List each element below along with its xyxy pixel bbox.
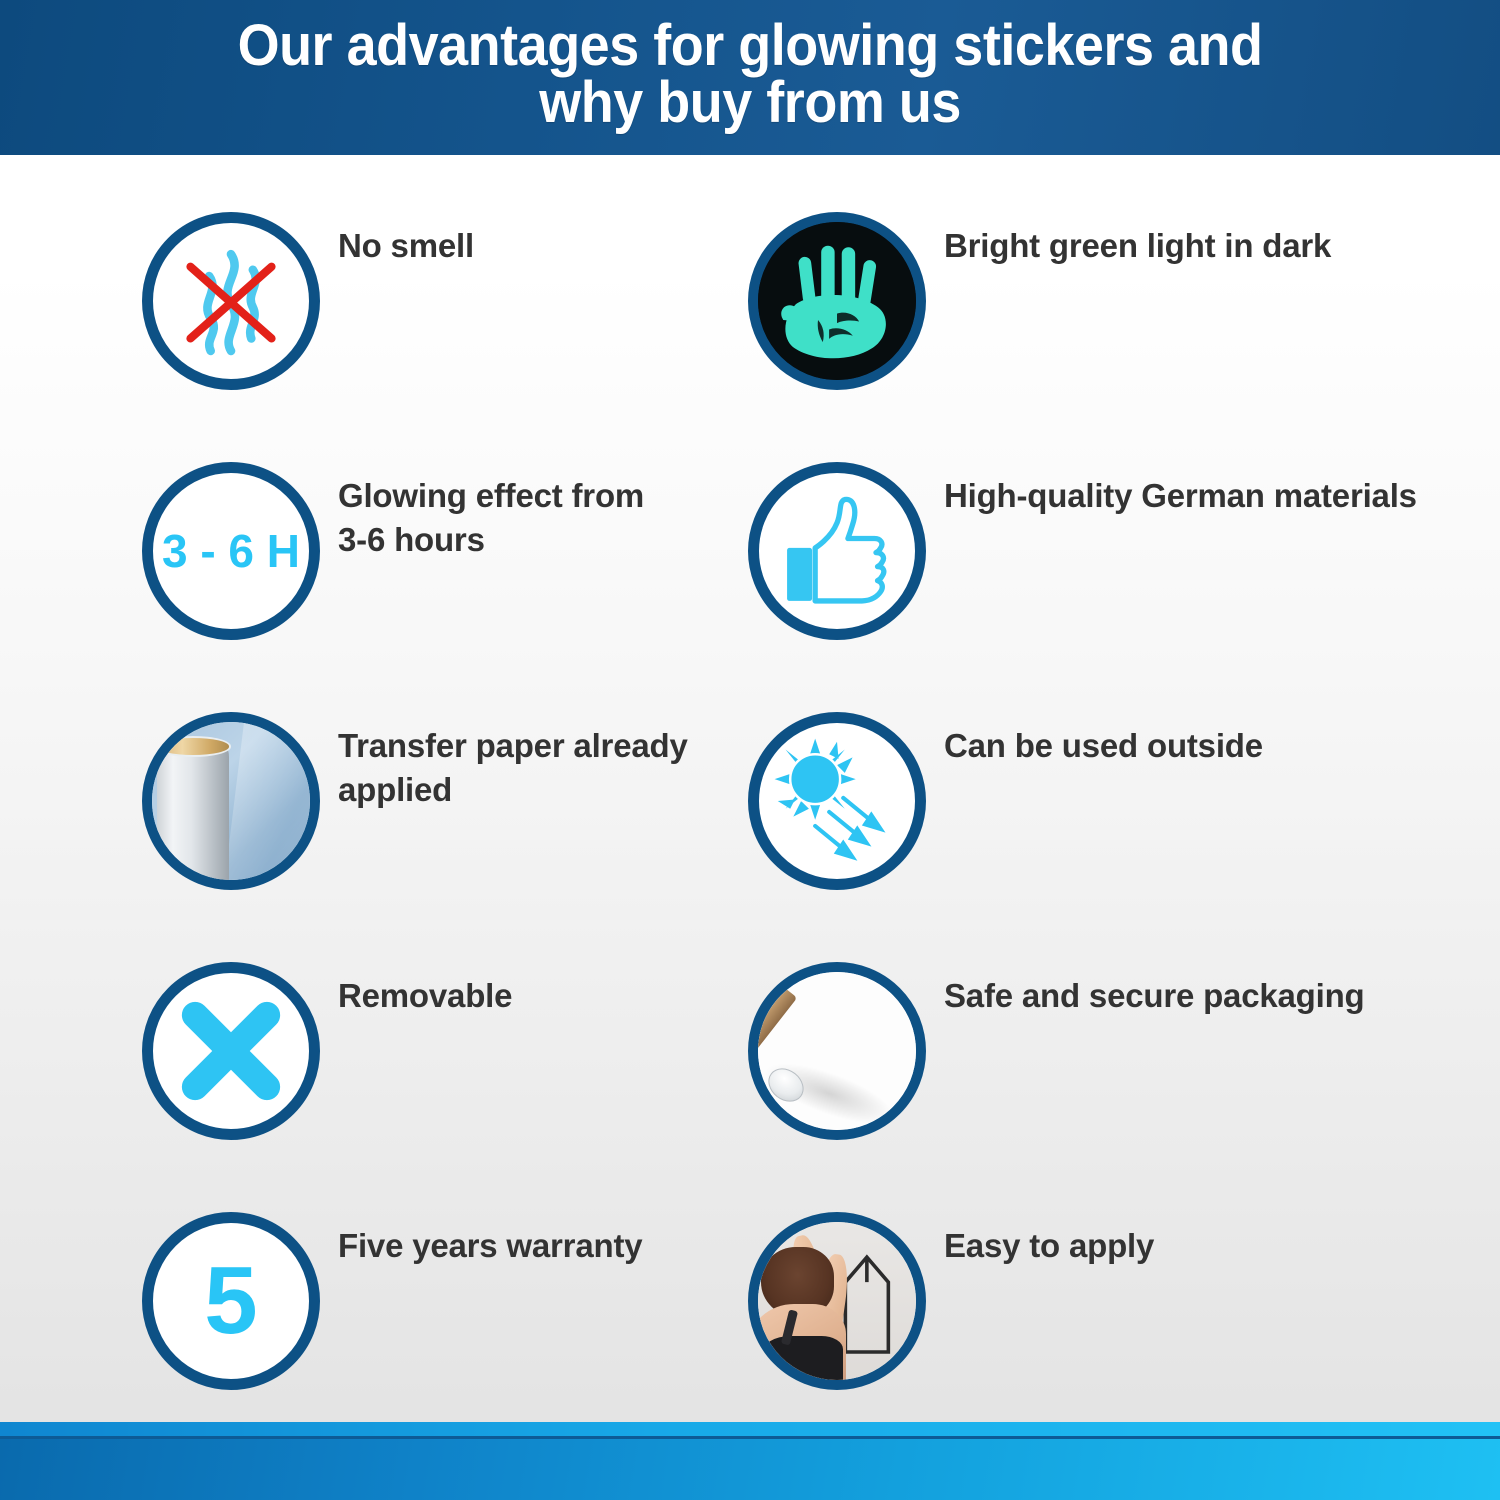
easy-to-apply-badge bbox=[748, 1212, 926, 1390]
woman-applying-decal-photo bbox=[758, 1222, 916, 1380]
black-top bbox=[761, 1336, 843, 1387]
advantage-item-safe-packaging: Safe and secure packaging bbox=[748, 962, 1365, 1140]
advantage-label: Easy to apply bbox=[944, 1224, 1154, 1268]
advantage-item-five-years-warranty: 5 Five years warranty bbox=[142, 1212, 642, 1390]
thumbs-up-badge bbox=[748, 462, 926, 640]
advantage-label: High-quality German materials bbox=[944, 474, 1417, 518]
bottom-banner bbox=[0, 1436, 1500, 1500]
wall-decal-outline bbox=[840, 1247, 894, 1364]
advantage-item-transfer-paper: Transfer paper already applied bbox=[142, 712, 688, 890]
advantage-label: No smell bbox=[338, 224, 474, 268]
page-title: Our advantages for glowing stickers and … bbox=[238, 18, 1263, 131]
bottom-accent-strip bbox=[0, 1422, 1500, 1436]
number-five-icon: 5 bbox=[153, 1223, 309, 1379]
advantage-label: Removable bbox=[338, 974, 512, 1018]
header-banner: Our advantages for glowing stickers and … bbox=[0, 0, 1500, 155]
advantage-item-bright-green-light: Bright green light in dark bbox=[748, 212, 1331, 390]
advantages-grid: No smell bbox=[0, 155, 1500, 1420]
hours-badge: 3 - 6 H bbox=[142, 462, 320, 640]
transfer-roll-core bbox=[155, 736, 231, 757]
removable-badge bbox=[142, 962, 320, 1140]
advantage-label: Five years warranty bbox=[338, 1224, 642, 1268]
advantage-item-no-smell: No smell bbox=[142, 212, 474, 390]
sun-rays-icon bbox=[759, 723, 915, 879]
transfer-film-roll bbox=[157, 741, 230, 883]
no-smell-icon bbox=[153, 223, 309, 379]
advantage-label: Bright green light in dark bbox=[944, 224, 1331, 268]
advantage-label: Glowing effect from 3-6 hours bbox=[338, 474, 644, 561]
warranty-badge: 5 bbox=[142, 1212, 320, 1390]
transfer-paper-badge bbox=[142, 712, 320, 890]
mailing-tube-photo bbox=[758, 972, 916, 1130]
glowing-handprint-icon bbox=[758, 222, 916, 380]
infographic-page: Our advantages for glowing stickers and … bbox=[0, 0, 1500, 1500]
outdoor-use-badge bbox=[748, 712, 926, 890]
advantage-item-removable: Removable bbox=[142, 962, 512, 1140]
advantage-item-glowing-effect-duration: 3 - 6 H Glowing effect from 3-6 hours bbox=[142, 462, 644, 640]
glowing-handprint-badge bbox=[748, 212, 926, 390]
no-smell-badge bbox=[142, 212, 320, 390]
safe-packaging-badge bbox=[748, 962, 926, 1140]
hours-badge-icon: 3 - 6 H bbox=[153, 473, 309, 629]
advantage-label: Transfer paper already applied bbox=[338, 724, 688, 811]
transfer-paper-roll-photo bbox=[152, 722, 310, 880]
thumbs-up-icon bbox=[759, 473, 915, 629]
advantage-item-outdoor-use: Can be used outside bbox=[748, 712, 1263, 890]
transfer-film-sheet bbox=[223, 713, 320, 890]
advantage-label: Can be used outside bbox=[944, 724, 1263, 768]
advantage-item-german-materials: High-quality German materials bbox=[748, 462, 1417, 640]
advantage-label: Safe and secure packaging bbox=[944, 974, 1365, 1018]
advantage-item-easy-to-apply: Easy to apply bbox=[748, 1212, 1154, 1390]
cross-x-icon bbox=[153, 973, 309, 1129]
